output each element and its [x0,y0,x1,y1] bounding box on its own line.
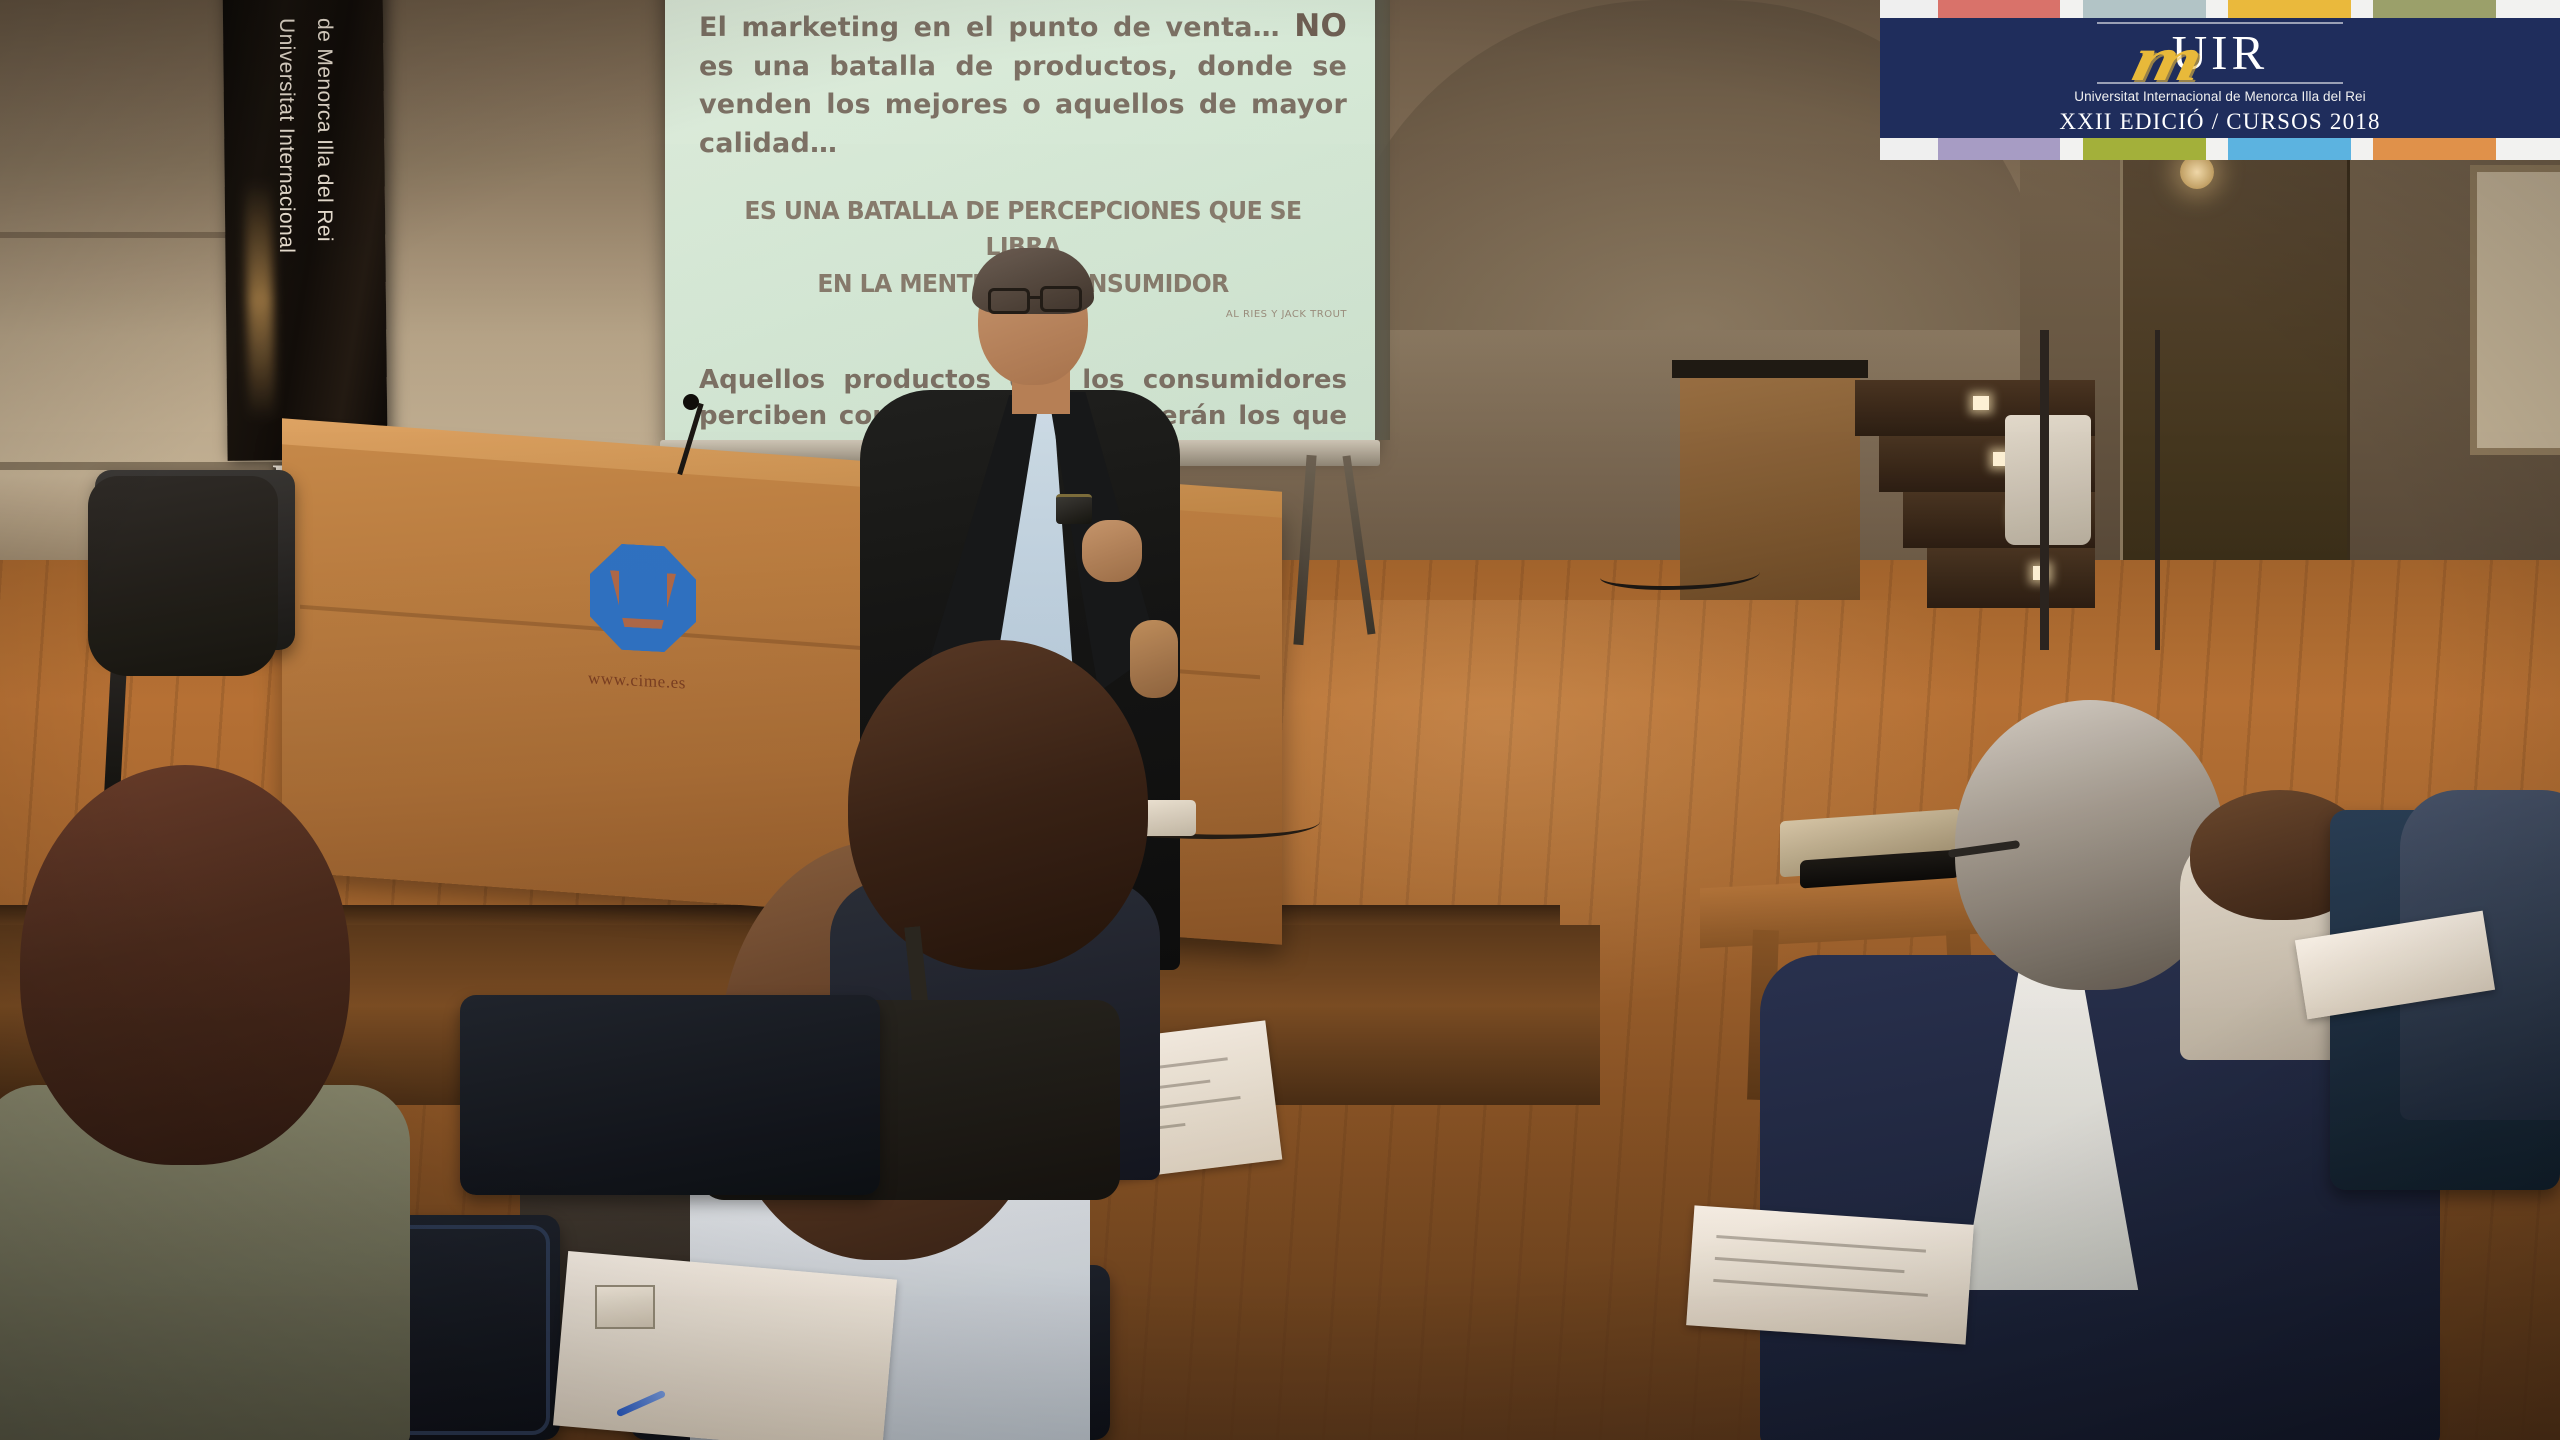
banner-text-line-2: de Menorca Illa del Rei [292,18,336,448]
speaker-hand-left [1130,620,1178,698]
overlay-panel: UIR m Universitat Internacional de Menor… [1880,18,2560,138]
notebook [1686,1205,1974,1344]
slide-paragraph-1: El marketing en el punto de venta… NO es… [699,4,1347,163]
screenshot-root: El marketing en el punto de venta… NO es… [0,0,2560,1440]
cime-logo-center-dot [628,562,656,584]
side-cabinet-equipment [1672,360,1868,378]
framed-picture [2470,165,2560,455]
handout-paper [553,1251,897,1440]
uimir-overlay: UIR m Universitat Internacional de Menor… [1880,0,2560,160]
equipment-trolley [2040,330,2160,650]
speaker-hand-right [1082,520,1142,582]
coat-on-chair [88,476,278,676]
name-tag [595,1285,655,1329]
speaker-glasses-left-lens [988,288,1030,314]
speaker-glasses-bridge [1029,296,1042,299]
slide-p1-part-b: es una batalla de productos, donde se ve… [699,51,1347,159]
uimir-logo-brush-m: m [2126,22,2209,96]
overlay-bottom-color-bar [1880,138,2560,160]
microphone-icon [683,394,699,410]
overlay-subtitle: Universitat Internacional de Menorca Ill… [2074,89,2366,104]
wall-moulding-upper [0,232,230,238]
speaker-glasses-right-lens [1040,286,1082,312]
overlay-top-color-bar [1880,0,2560,18]
wall-lamp-icon [2180,155,2214,189]
slide-p1-part-a: El marketing en el punto de venta… [699,12,1294,43]
audience-person-hair [20,765,350,1165]
overlay-edition: XXII EDICIÓ / CURSOS 2018 [2059,109,2380,135]
step-light-icon [1973,396,1989,410]
power-adapter [1140,800,1196,836]
audience-chair [460,995,880,1195]
audience-person-hair [848,640,1148,970]
presenter-remote-icon [1056,494,1092,524]
uimir-logo: UIR m [2097,24,2343,82]
slide-p1-emphasis: NO [1294,8,1347,44]
